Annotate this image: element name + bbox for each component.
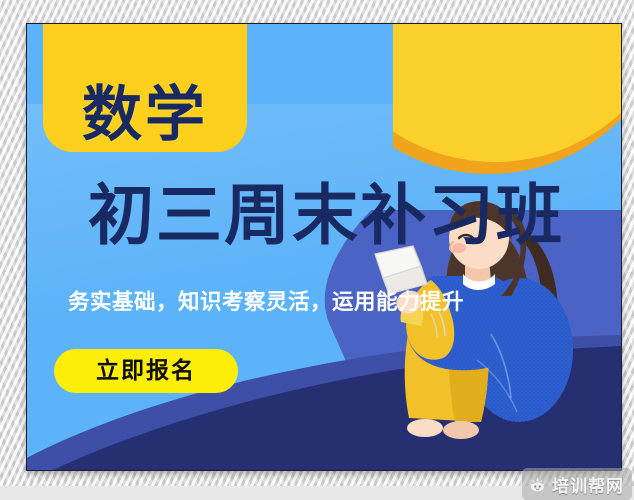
page-frame: 数学 初三周末补习班 务实基础，知识考察灵活，运用能力提升 立即报名 <box>0 0 634 486</box>
site-watermark: 培训帮网 <box>522 468 632 500</box>
poster-canvas: 数学 初三周末补习班 务实基础，知识考察灵活，运用能力提升 立即报名 <box>27 24 621 470</box>
poster-subtitle: 务实基础，知识考察灵活，运用能力提升 <box>31 290 501 316</box>
page-title: 初三周末补习班 <box>33 180 619 251</box>
enroll-now-button[interactable]: 立即报名 <box>54 349 238 393</box>
subject-badge: 数学 <box>43 24 247 152</box>
corner-swoosh-decoration <box>393 24 621 197</box>
subject-badge-label: 数学 <box>82 85 208 146</box>
watermark-text: 培训帮网 <box>552 472 624 497</box>
course-poster: 数学 初三周末补习班 务实基础，知识考察灵活，运用能力提升 立即报名 <box>26 23 622 471</box>
sunburst-face-logo-icon <box>528 475 547 494</box>
